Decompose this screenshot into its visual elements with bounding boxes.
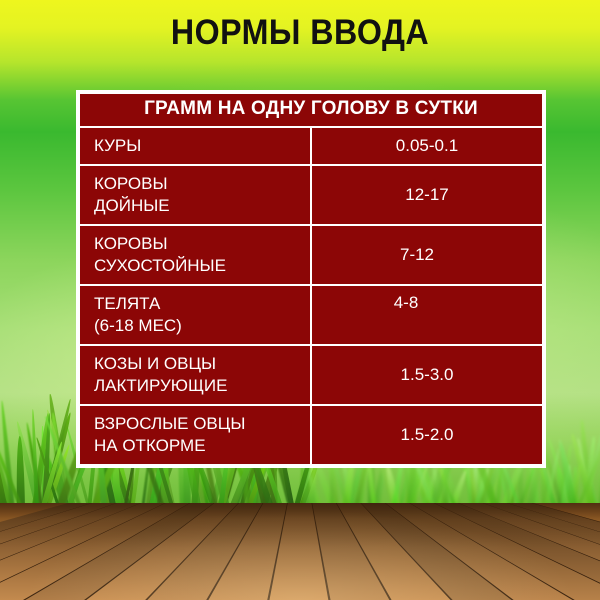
table-row: ТЕЛЯТА(6-18 МЕС)4-8 <box>80 286 542 344</box>
animal-name-cell: ВЗРОСЛЫЕ ОВЦЫНА ОТКОРМЕ <box>80 406 310 464</box>
dosage-value-cell: 4-8 <box>312 286 542 344</box>
animal-name-line2: НА ОТКОРМЕ <box>94 436 206 455</box>
animal-name-line1: КОРОВЫ <box>94 174 168 193</box>
animal-name-line1: КОЗЫ И ОВЦЫ <box>94 354 216 373</box>
animal-name-line1: КОРОВЫ <box>94 234 168 253</box>
table-head: ГРАММ НА ОДНУ ГОЛОВУ В СУТКИ <box>80 94 542 126</box>
animal-name-line1: ТЕЛЯТА <box>94 294 160 313</box>
table-row: КОРОВЫДОЙНЫЕ12-17 <box>80 166 542 224</box>
dosage-value-cell: 1.5-3.0 <box>312 346 542 404</box>
rates-table: ГРАММ НА ОДНУ ГОЛОВУ В СУТКИ КУРЫ0.05-0.… <box>78 92 544 466</box>
table-row: КОРОВЫСУХОСТОЙНЫЕ7-12 <box>80 226 542 284</box>
animal-name-cell: КОРОВЫСУХОСТОЙНЫЕ <box>80 226 310 284</box>
table-body: КУРЫ0.05-0.1КОРОВЫДОЙНЫЕ12-17КОРОВЫСУХОС… <box>80 128 542 464</box>
animal-name-line2: ЛАКТИРУЮЩИЕ <box>94 376 227 395</box>
table-row: ВЗРОСЛЫЕ ОВЦЫНА ОТКОРМЕ1.5-2.0 <box>80 406 542 464</box>
animal-name-cell: ТЕЛЯТА(6-18 МЕС) <box>80 286 310 344</box>
dosage-value-cell: 0.05-0.1 <box>312 128 542 164</box>
animal-name-cell: КУРЫ <box>80 128 310 164</box>
wooden-deck <box>0 503 600 600</box>
animal-name-line2: СУХОСТОЙНЫЕ <box>94 256 226 275</box>
dosage-value-cell: 1.5-2.0 <box>312 406 542 464</box>
dosage-value-cell: 7-12 <box>312 226 542 284</box>
rates-table-container: ГРАММ НА ОДНУ ГОЛОВУ В СУТКИ КУРЫ0.05-0.… <box>76 90 546 468</box>
table-row: КУРЫ0.05-0.1 <box>80 128 542 164</box>
table-header-row: ГРАММ НА ОДНУ ГОЛОВУ В СУТКИ <box>80 94 542 126</box>
table-header-cell: ГРАММ НА ОДНУ ГОЛОВУ В СУТКИ <box>80 94 542 126</box>
dosage-value-cell: 12-17 <box>312 166 542 224</box>
animal-name-line1: КУРЫ <box>94 136 141 155</box>
deck-shading <box>0 503 600 600</box>
animal-name-cell: КОРОВЫДОЙНЫЕ <box>80 166 310 224</box>
poster-canvas: НОРМЫ ВВОДА ГРАММ НА ОДНУ ГОЛОВУ В СУТКИ… <box>0 0 600 600</box>
animal-name-line2: (6-18 МЕС) <box>94 316 182 335</box>
animal-name-line1: ВЗРОСЛЫЕ ОВЦЫ <box>94 414 245 433</box>
animal-name-line2: ДОЙНЫЕ <box>94 196 170 215</box>
page-title: НОРМЫ ВВОДА <box>24 13 576 53</box>
animal-name-cell: КОЗЫ И ОВЦЫЛАКТИРУЮЩИЕ <box>80 346 310 404</box>
table-row: КОЗЫ И ОВЦЫЛАКТИРУЮЩИЕ1.5-3.0 <box>80 346 542 404</box>
